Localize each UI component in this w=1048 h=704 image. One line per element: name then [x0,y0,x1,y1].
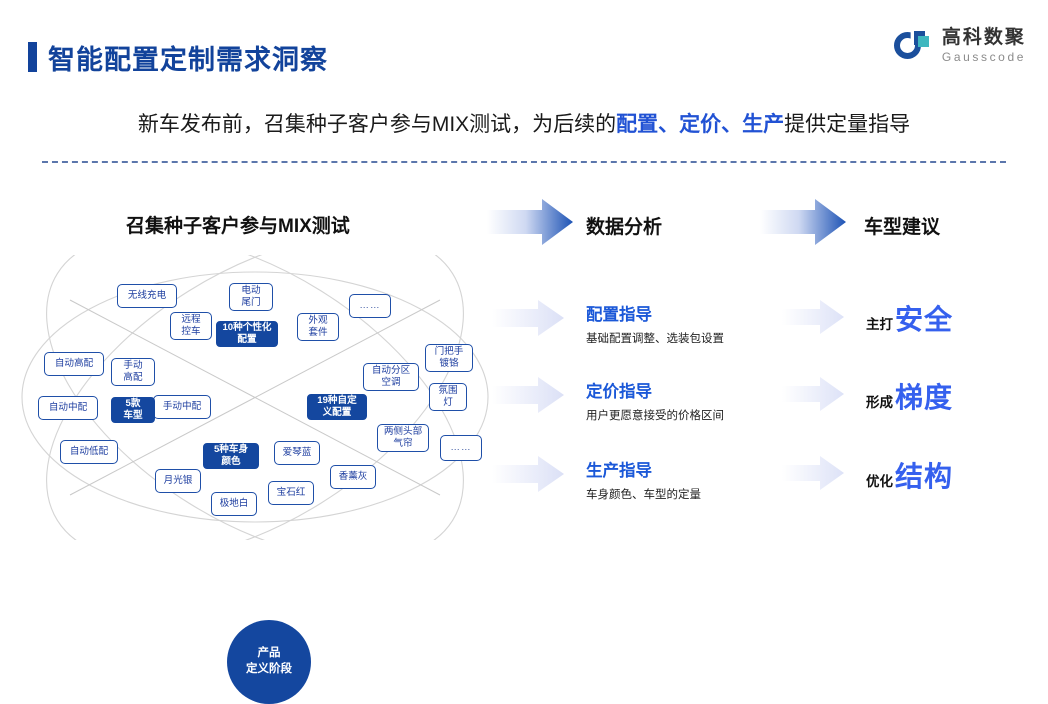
subtitle-part2: 提供定量指导 [784,113,910,136]
mindmap-node-ellipsis-top[interactable]: …… [349,294,391,318]
mindmap-node-ruby-red[interactable]: 宝石红 [268,481,314,505]
advice-word: 结构 [895,455,953,495]
mindmap-center-line1: 产品 [258,646,281,662]
advice-item-structure[interactable]: 优化 结构 [866,455,953,495]
analysis-desc: 基础配置调整、选装包设置 [586,330,724,346]
analysis-title: 生产指导 [586,457,701,481]
advice-item-tiering[interactable]: 形成 梯度 [866,376,953,416]
logo-name-cn: 高科数聚 [942,28,1026,47]
logo-text: 高科数聚 Gausscode [942,28,1026,63]
analysis-item-production[interactable]: 生产指导 车身颜色、车型的定量 [586,457,701,502]
analysis-title: 配置指导 [586,301,724,325]
row-arrow-right-3 [782,456,844,490]
analysis-desc: 用户更愿意接受的价格区间 [586,407,724,423]
advice-item-safety[interactable]: 主打 安全 [866,298,953,338]
mindmap-node-aegean-blue[interactable]: 爱琴蓝 [274,441,320,465]
analysis-title: 定价指导 [586,378,724,402]
analysis-item-configuration[interactable]: 配置指导 基础配置调整、选装包设置 [586,301,724,346]
page-title: 智能配置定制需求洞察 [48,38,328,77]
analysis-item-pricing[interactable]: 定价指导 用户更愿意接受的价格区间 [586,378,724,423]
advice-word: 安全 [895,298,953,338]
mindmap-chip-personalized[interactable]: 10种个性化 配置 [216,321,278,347]
mindmap-node-appearance-kit[interactable]: 外观 套件 [297,313,339,341]
mindmap-node-chrome-handle[interactable]: 门把手 镀铬 [425,344,473,372]
logo-name-en: Gausscode [942,51,1026,63]
mindmap-node-lavender-grey[interactable]: 香薰灰 [330,465,376,489]
mindmap-node-auto-low-trim[interactable]: 自动低配 [60,440,118,464]
mindmap-node-wireless-charging[interactable]: 无线充电 [117,284,177,308]
mindmap-center: 产品 定义阶段 [227,620,311,704]
logo-mark-icon [894,27,934,63]
advice-word: 梯度 [895,376,953,416]
mindmap-chip-custom[interactable]: 19种自定 义配置 [307,394,367,420]
advice-prefix: 形成 [866,391,893,411]
mindmap-node-dual-zone-ac[interactable]: 自动分区 空调 [363,363,419,391]
mindmap-node-moonlight-silver[interactable]: 月光银 [155,469,201,493]
section-divider [42,161,1006,163]
flow-arrow-main-2 [760,199,846,245]
advice-prefix: 主打 [866,313,893,333]
mindmap-node-side-curtain-airbags[interactable]: 两侧头部 气帘 [377,424,429,452]
subtitle-part1: 新车发布前，召集种子客户参与MIX测试，为后续的 [138,113,616,136]
mindmap-node-ellipsis-right[interactable]: …… [440,435,482,461]
row-arrow-right-1 [782,300,844,334]
title-accent-bar [28,42,37,72]
mindmap-center-line2: 定义阶段 [246,662,292,678]
column-heading-mix: 召集种子客户参与MIX测试 [126,211,350,238]
mindmap-node-manual-mid-trim[interactable]: 手动中配 [153,395,211,419]
subtitle-highlight: 配置、定价、生产 [616,113,784,136]
mindmap-node-manual-high-trim[interactable]: 手动 高配 [111,358,155,386]
mindmap-node-polar-white[interactable]: 极地白 [211,492,257,516]
row-arrow-right-2 [782,377,844,411]
mindmap-chip-models[interactable]: 5款 车型 [111,397,155,423]
mindmap-node-auto-high-trim[interactable]: 自动高配 [44,352,104,376]
mindmap-node-ambient-light[interactable]: 氛围 灯 [429,383,467,411]
column-heading-analysis: 数据分析 [586,212,662,239]
mindmap-node-power-tailgate[interactable]: 电动 尾门 [229,283,273,311]
mindmap-node-remote-control[interactable]: 远程 控车 [170,312,212,340]
flow-arrow-main-1 [487,199,573,245]
header: 智能配置定制需求洞察 [0,18,1048,66]
analysis-desc: 车身颜色、车型的定量 [586,486,701,502]
column-heading-advice: 车型建议 [864,212,940,239]
brand-logo: 高科数聚 Gausscode [894,22,1026,68]
advice-prefix: 优化 [866,470,893,490]
subtitle: 新车发布前，召集种子客户参与MIX测试，为后续的配置、定价、生产提供定量指导 [0,108,1048,138]
slide-root: 智能配置定制需求洞察 高科数聚 Gausscode 新车发布前，召集种子客户参与… [0,0,1048,589]
mindmap-node-auto-mid-trim[interactable]: 自动中配 [38,396,98,420]
mindmap-chip-colors[interactable]: 5种车身 颜色 [203,443,259,469]
logo-square-teal [918,36,929,47]
